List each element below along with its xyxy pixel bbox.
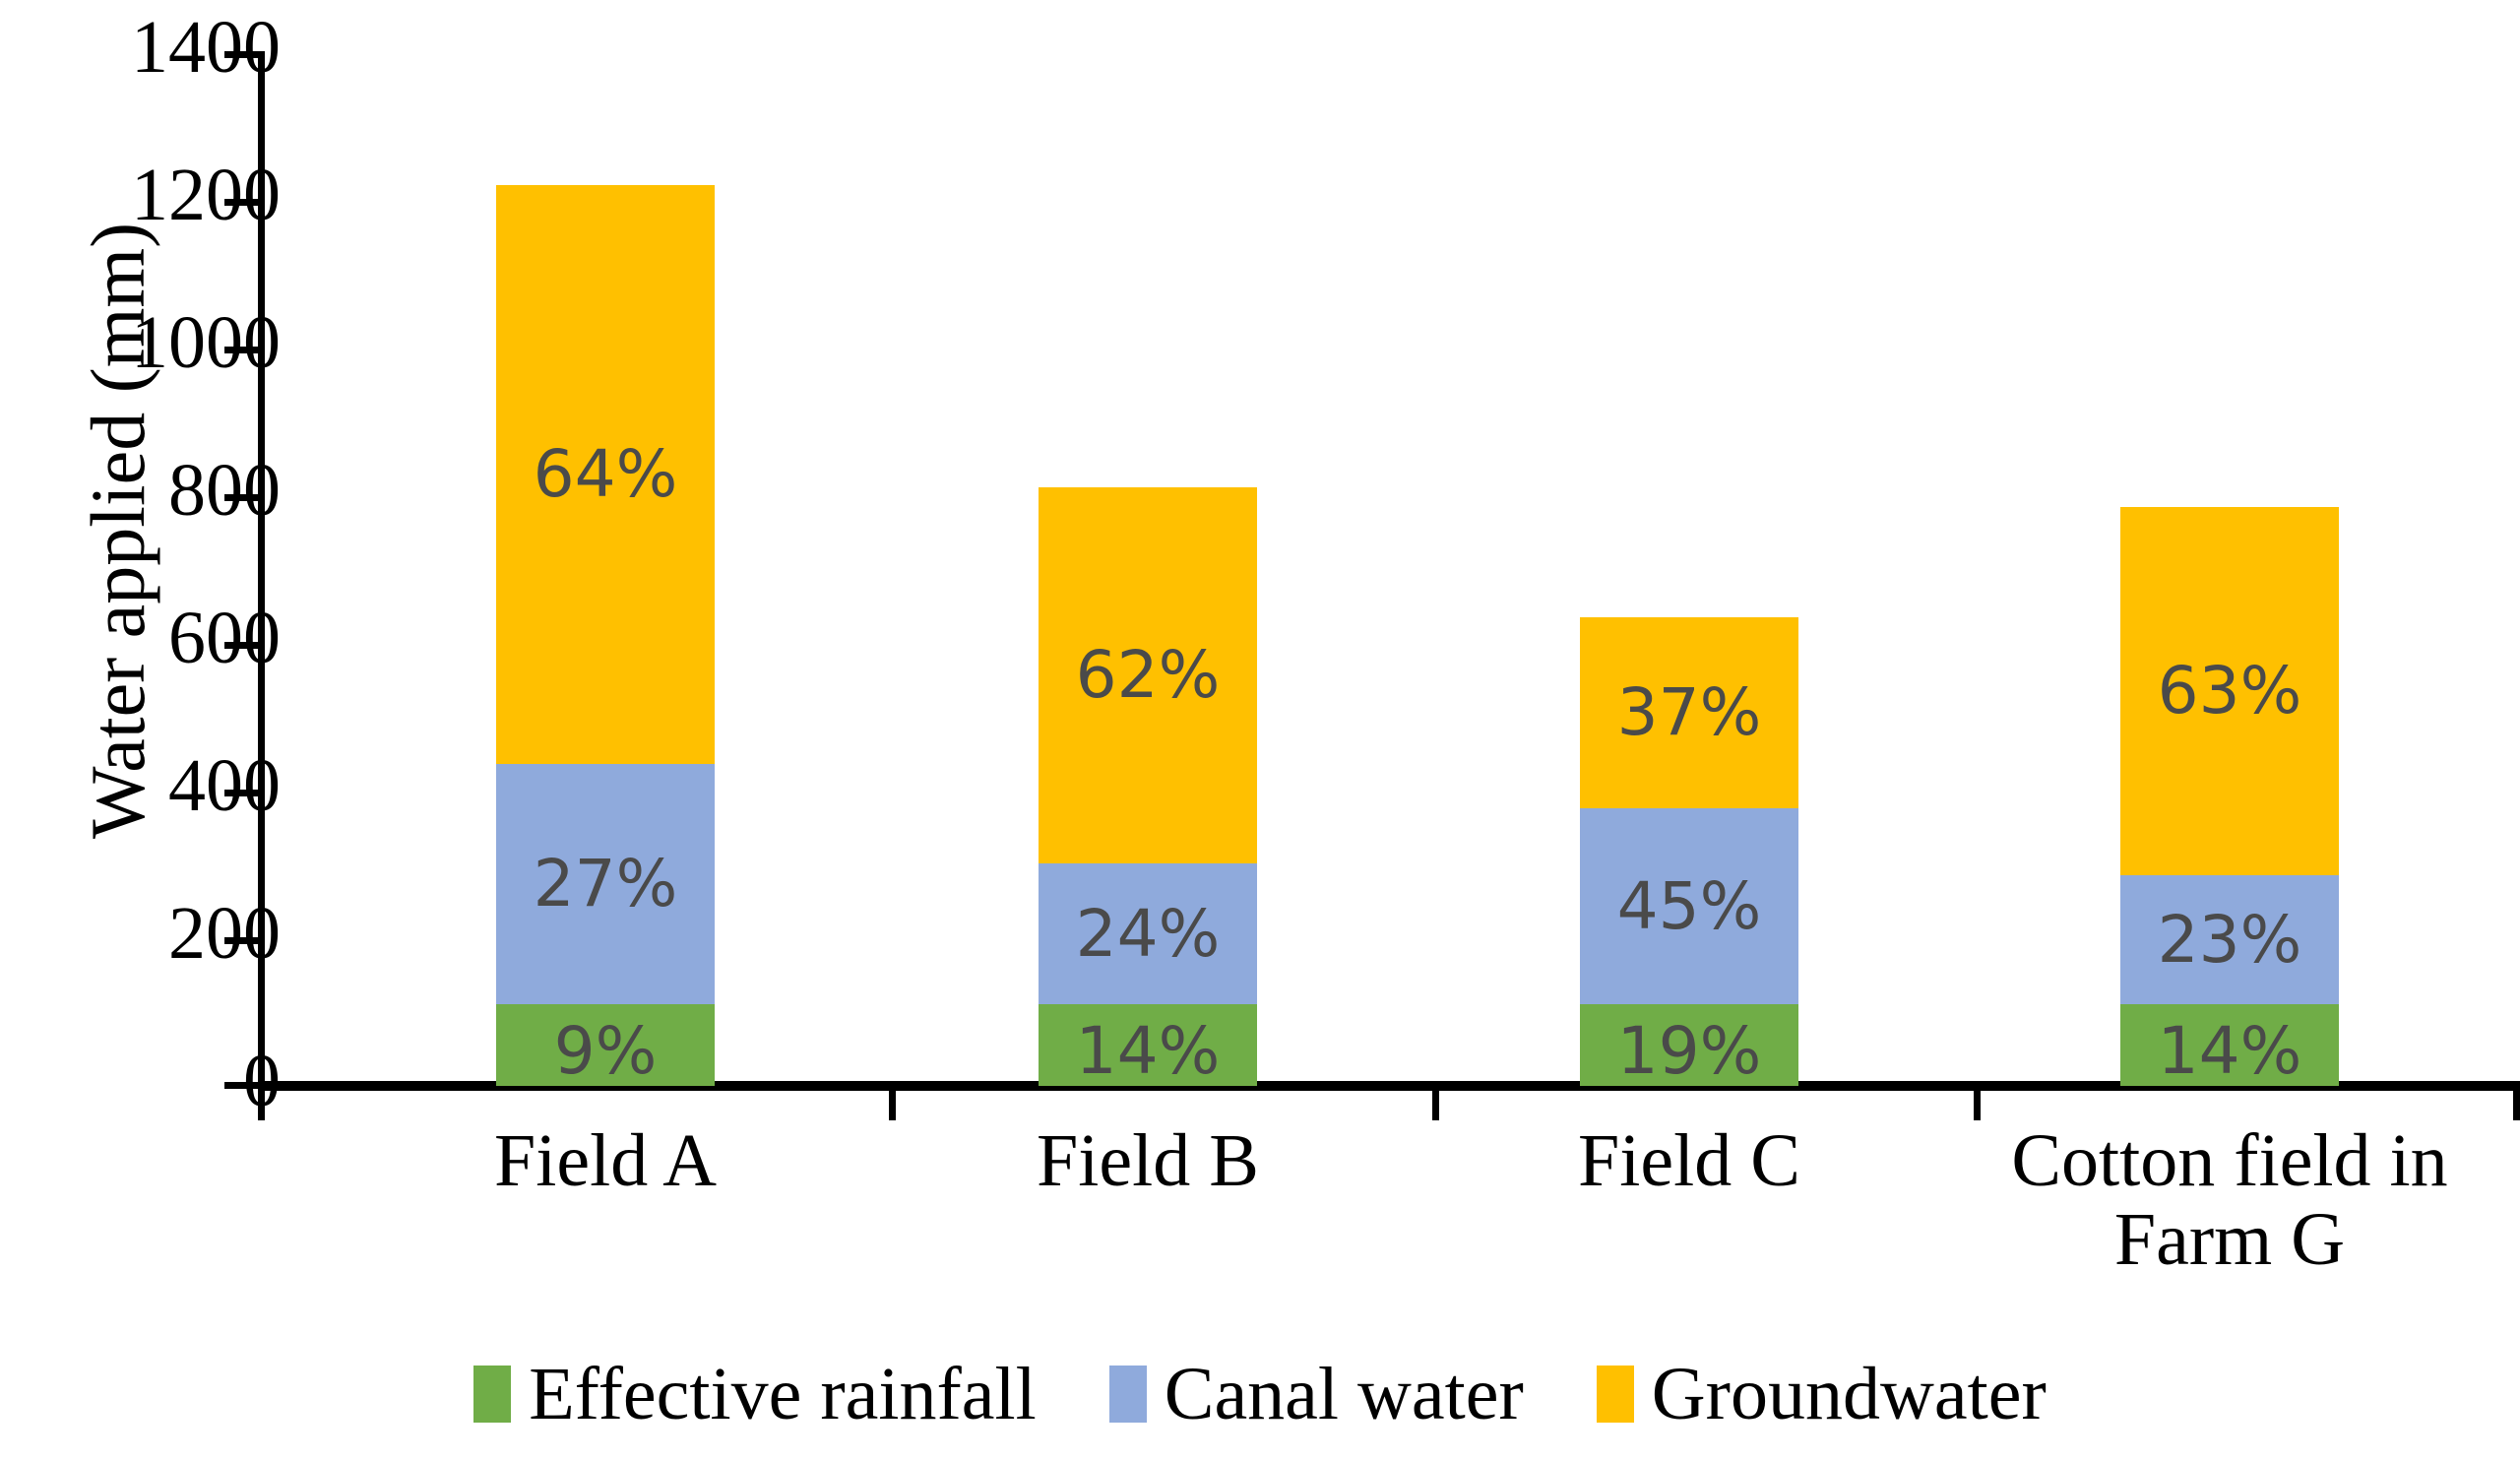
legend-item-label: Effective rainfall [529,1357,1037,1431]
bar-segment-canal-water[interactable]: 23% [2120,875,2339,1004]
x-axis-category-label-line: Field A [359,1122,851,1201]
y-tick-label: 200 [108,896,281,971]
y-tick-mark [224,347,260,353]
plot-area: 64% 27% 9% 62% 24% 14% 37% [258,51,2520,1086]
y-tick-mark [224,494,260,501]
x-axis-category-label-field-c: Field C [1443,1122,1935,1201]
x-tick-mark [258,1081,265,1120]
x-tick-mark [889,1081,896,1120]
bar-segment-label: 62% [1076,643,1221,708]
y-tick-mark [224,51,260,58]
legend-item-label: Groundwater [1652,1357,2047,1431]
bar-segment-label: 23% [2158,908,2302,973]
bar-segment-canal-water[interactable]: 27% [496,764,715,1004]
y-tick-label: 1000 [108,305,281,380]
y-tick-mark [224,1082,260,1089]
y-tick-mark [224,642,260,649]
bar-segment-label: 14% [2158,1019,2302,1084]
legend-swatch-icon [1109,1366,1147,1423]
y-tick-label: 800 [108,453,281,528]
bar-segment-groundwater[interactable]: 62% [1039,487,1257,863]
legend-swatch-icon [1597,1366,1634,1423]
legend-item-effective-rainfall[interactable]: Effective rainfall [473,1357,1037,1431]
y-tick-mark [224,937,260,944]
bar-segment-label: 19% [1617,1019,1762,1084]
bar-group-field-b[interactable]: 62% 24% 14% [1039,487,1257,1086]
x-tick-mark [2513,1081,2520,1120]
bar-segment-effective-rainfall[interactable]: 9% [496,1004,715,1086]
x-axis-category-label-line: Cotton field in [1984,1122,2476,1201]
x-axis-category-label-line: Field C [1443,1122,1935,1201]
x-axis-category-label-field-b: Field B [902,1122,1394,1201]
bar-segment-label: 37% [1617,680,1762,745]
bar-segment-label: 63% [2158,659,2302,724]
y-tick-label: 600 [108,601,281,675]
bar-segment-canal-water[interactable]: 45% [1580,808,1798,1004]
bar-group-field-a[interactable]: 64% 27% 9% [496,185,715,1086]
y-tick-label: 1400 [108,10,281,85]
x-axis-category-label-line: Farm G [1984,1201,2476,1280]
y-tick-mark [224,790,260,796]
chart-legend: Effective rainfall Canal water Groundwat… [0,1357,2520,1431]
bar-segment-label: 45% [1617,874,1762,939]
y-tick-label: 0 [108,1044,281,1118]
bar-segment-canal-water[interactable]: 24% [1039,863,1257,1004]
legend-item-groundwater[interactable]: Groundwater [1597,1357,2047,1431]
bar-segment-effective-rainfall[interactable]: 14% [1039,1004,1257,1086]
bar-segment-groundwater[interactable]: 63% [2120,507,2339,875]
bar-segment-label: 9% [554,1019,658,1084]
y-axis-tick-labels: 1400 1200 1000 800 600 400 200 0 [108,0,281,1461]
stacked-bar-chart: Water applied (mm) 1400 1200 1000 800 60… [0,0,2520,1461]
legend-item-label: Canal water [1165,1357,1524,1431]
legend-swatch-icon [473,1366,511,1423]
y-tick-label: 400 [108,748,281,823]
x-tick-mark [1432,1081,1439,1120]
bar-segment-label: 14% [1076,1019,1221,1084]
x-axis-category-label-line: Field B [902,1122,1394,1201]
bar-group-field-c[interactable]: 37% 45% 19% [1580,617,1798,1086]
bar-segment-label: 27% [534,852,678,917]
y-tick-label: 1200 [108,158,281,232]
x-tick-mark [1974,1081,1981,1120]
x-axis-category-label-cotton-field-farm-g: Cotton field in Farm G [1984,1122,2476,1280]
bar-segment-effective-rainfall[interactable]: 14% [2120,1004,2339,1086]
bar-segment-label: 24% [1076,902,1221,967]
bar-segment-effective-rainfall[interactable]: 19% [1580,1004,1798,1086]
bar-segment-groundwater[interactable]: 37% [1580,617,1798,808]
legend-item-canal-water[interactable]: Canal water [1109,1357,1524,1431]
bar-group-cotton-field-farm-g[interactable]: 63% 23% 14% [2120,507,2339,1086]
bar-segment-groundwater[interactable]: 64% [496,185,715,764]
bar-segment-label: 64% [534,442,678,507]
y-tick-mark [224,199,260,206]
x-axis-category-label-field-a: Field A [359,1122,851,1201]
